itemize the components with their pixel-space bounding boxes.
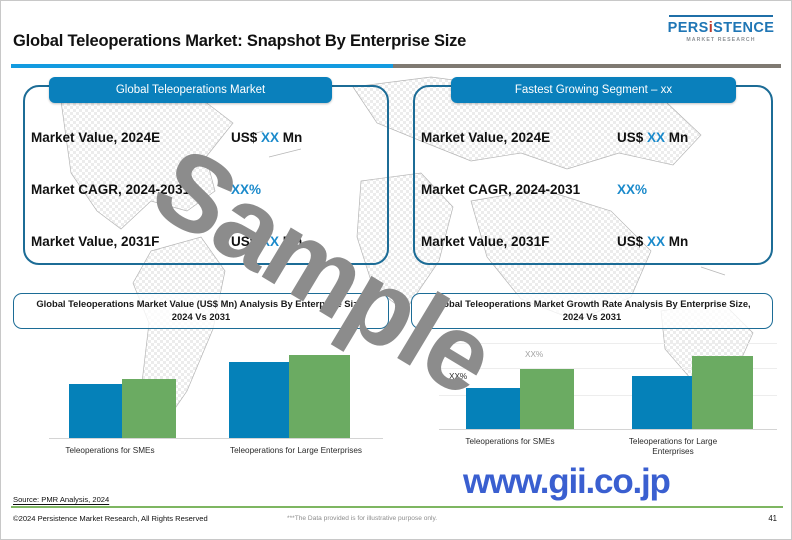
x-axis-line [439,429,777,430]
kpi-label: Market Value, 2024E [421,130,617,145]
kpi-value-prefix: US$ [231,130,261,145]
bar-group [466,336,574,429]
disclaimer-note: ***The Data provided is for illustrative… [287,515,437,522]
kpi-value-placeholder: XX [617,182,635,197]
kpi-card-global-market-rows: Market Value, 2024E US$ XX Mn Market CAG… [31,111,383,267]
kpi-label: Market Value, 2031F [421,234,617,249]
x-tick-label: Teleoperations for SMEs [35,446,185,457]
logo-word-pre: PERS [668,20,709,36]
kpi-value-placeholder: XX [261,234,279,249]
page-title: Global Teleoperations Market: Snapshot B… [13,32,466,51]
x-tick-label: Teleoperations for SMEs [429,437,591,448]
x-axis-line [49,438,383,439]
kpi-value-prefix: US$ [617,130,647,145]
bar-2031 [289,355,349,438]
chart-title-market-value: Global Teleoperations Market Value (US$ … [13,293,389,329]
kpi-value-suffix: Mn [279,130,302,145]
logo-wordmark: PERSiSTENCE [663,21,779,36]
page-number: 41 [768,514,777,523]
bar-2024 [466,388,520,429]
bar-data-label: XX% [525,350,543,359]
bar-2024 [69,384,122,438]
logo-word-post: STENCE [713,20,774,36]
kpi-card-fastest-segment-rows: Market Value, 2024E US$ XX Mn Market CAG… [421,111,769,267]
bar-group [229,344,349,438]
kpi-row: Market Value, 2024E US$ XX Mn [31,111,383,163]
logo-tagline: MARKET RESEARCH [663,37,779,43]
kpi-value-placeholder: XX [647,130,665,145]
kpi-label: Market Value, 2024E [31,130,231,145]
bar-group [69,344,176,438]
kpi-value-suffix: Mn [665,234,688,249]
brand-logo: PERSiSTENCE MARKET RESEARCH [663,15,779,43]
title-rule-secondary [393,64,781,68]
bar-2024 [632,376,693,429]
logo-divider [669,15,773,17]
source-note: Source: PMR Analysis, 2024 [13,495,109,504]
kpi-label: Market Value, 2031F [31,234,231,249]
kpi-value-suffix: Mn [279,234,302,249]
bar-group [632,336,754,429]
kpi-value-prefix: US$ [617,234,647,249]
plot-area [49,345,383,439]
bar-2031 [692,356,753,429]
plot-area: XX% XX% [439,337,777,430]
kpi-value: US$ XX Mn [617,234,769,249]
footer-divider [11,506,783,508]
kpi-value-prefix: US$ [231,234,261,249]
kpi-label: Market CAGR, 2024-2031 [31,182,231,197]
kpi-row: Market Value, 2031F US$ XX Mn [31,215,383,267]
copyright-note: ©2024 Persistence Market Research, All R… [13,514,208,523]
kpi-label: Market CAGR, 2024-2031 [421,182,617,197]
kpi-value-placeholder: XX [647,234,665,249]
x-tick-label: Teleoperations for Large Enterprises [609,437,737,458]
kpi-row: Market Value, 2024E US$ XX Mn [421,111,769,163]
bar-2024 [229,362,289,438]
bar-2031 [122,379,175,438]
kpi-value-placeholder: XX [231,182,249,197]
chart-growth-rate-by-enterprise-size: XX% XX% Teleoperations for SMEs Teleoper… [413,331,783,476]
kpi-row: Market CAGR, 2024-2031 XX% [31,163,383,215]
x-tick-label: Teleoperations for Large Enterprises [203,446,389,457]
title-rule-accent [11,64,393,68]
chart-market-value-by-enterprise-size: Teleoperations for SMEs Teleoperations f… [15,341,391,471]
kpi-row: Market Value, 2031F US$ XX Mn [421,215,769,267]
kpi-value: US$ XX Mn [231,130,383,145]
kpi-value-placeholder: XX [261,130,279,145]
kpi-card-global-market-header: Global Teleoperations Market [49,77,332,103]
bar-2031 [520,369,574,429]
kpi-value: US$ XX Mn [231,234,383,249]
bar-data-label: XX% [449,372,467,381]
chart-title-growth-rate: Global Teleoperations Market Growth Rate… [411,293,773,329]
kpi-value-suffix: % [635,182,647,197]
kpi-value: XX% [231,182,383,197]
kpi-card-fastest-segment-header: Fastest Growing Segment – xx [451,77,736,103]
kpi-value-suffix: % [249,182,261,197]
kpi-value: XX% [617,182,769,197]
kpi-value: US$ XX Mn [617,130,769,145]
kpi-row: Market CAGR, 2024-2031 XX% [421,163,769,215]
kpi-value-suffix: Mn [665,130,688,145]
slide-canvas: Global Teleoperations Market: Snapshot B… [0,0,792,540]
